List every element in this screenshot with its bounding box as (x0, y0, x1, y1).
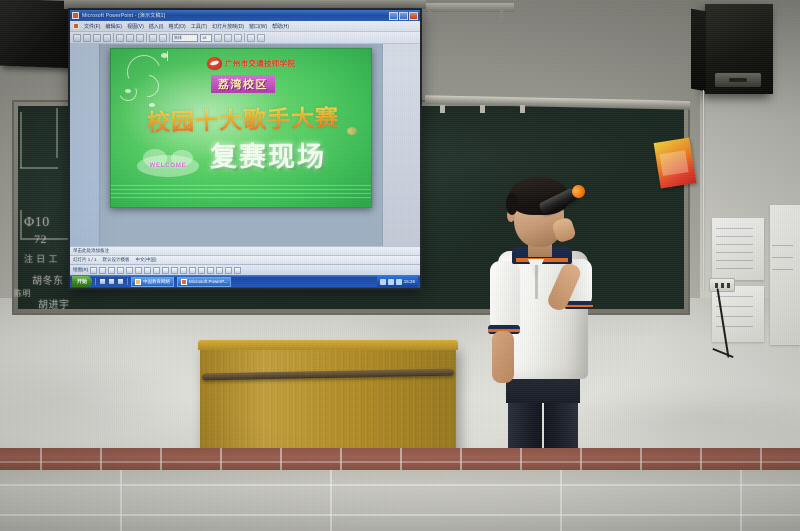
menu-item-file[interactable]: 文件(F) (84, 23, 100, 30)
align-center-icon[interactable] (257, 34, 265, 42)
projection-screen: Microsoft PowerPoint - [演示文稿1] 文件(F) 编辑(… (68, 8, 422, 290)
screen-mount-arm (428, 10, 431, 22)
slide-thumbnail-pane[interactable] (70, 44, 100, 246)
wall-paper (770, 205, 800, 345)
school-logo: 广州市交通技师学院 (207, 57, 295, 70)
close-button[interactable] (409, 12, 418, 20)
clock[interactable]: 15:26 (404, 279, 415, 284)
window-buttons[interactable] (389, 12, 418, 20)
toolbar-separator (146, 33, 147, 42)
screen-mount-arm (500, 10, 503, 22)
butterfly-decoration (347, 127, 357, 135)
italic-icon[interactable] (224, 34, 232, 42)
browser-icon[interactable] (108, 278, 115, 285)
left-arm (492, 331, 514, 383)
shirt-placket (535, 265, 538, 299)
wall-speaker-left (0, 0, 76, 68)
wall-speaker-right (705, 4, 773, 94)
menu-item-window[interactable]: 窗口(W) (249, 23, 267, 30)
draw-menu-label[interactable]: 绘图(R) (73, 267, 88, 273)
status-bar-info: 幻灯片 1 / 1 默认设计模板 中文(中国) (70, 255, 420, 264)
menu-item-edit[interactable]: 编辑(E) (105, 23, 122, 30)
system-tray[interactable]: 15:26 (377, 276, 418, 287)
task-pane[interactable] (382, 44, 420, 246)
folder-icon (135, 279, 141, 285)
wall-paper (712, 218, 764, 280)
language-label: 中文(中国) (136, 257, 157, 263)
staff-lines-decoration (111, 185, 371, 201)
slide-counter: 幻灯片 1 / 1 (73, 257, 97, 263)
taskbar-item-label: Microsoft PowerP... (189, 279, 227, 284)
taskbar-item-powerpoint[interactable]: Microsoft PowerP... (177, 277, 231, 287)
bold-icon[interactable] (214, 34, 222, 42)
menu-item-format[interactable]: 格式(O) (168, 23, 185, 30)
print-icon[interactable] (103, 34, 111, 42)
save-icon[interactable] (93, 34, 101, 42)
document-icon (73, 23, 79, 29)
start-button[interactable]: 开始 (72, 276, 92, 287)
textbox-icon[interactable] (144, 267, 151, 274)
standard-toolbar[interactable]: 宋体 18 (70, 32, 420, 44)
font-size-combo[interactable]: 18 (200, 34, 212, 42)
3d-style-icon[interactable] (234, 267, 241, 274)
welcome-cloud-decoration: WELCOME (137, 155, 199, 177)
music-note-stem (167, 51, 168, 61)
classroom-scene: Φ10 72 注 日 工 胡冬东 陈明 胡进宇 Micro (0, 0, 800, 531)
chalk-note-number: 72 (34, 232, 47, 247)
toolbar-separator (169, 33, 170, 42)
minimize-button[interactable] (389, 12, 398, 20)
font-color-icon[interactable] (198, 267, 205, 274)
menu-bar[interactable]: 文件(F) 编辑(E) 视图(V) 插入(I) 格式(O) 工具(T) 幻灯片放… (70, 21, 420, 32)
fill-color-icon[interactable] (180, 267, 187, 274)
diagram-icon[interactable] (162, 267, 169, 274)
window-title: Microsoft PowerPoint - [演示文稿1] (82, 12, 165, 19)
new-file-icon[interactable] (73, 34, 81, 42)
volume-icon[interactable] (380, 279, 386, 285)
chalk-mark (20, 167, 58, 169)
quick-launch-bar[interactable] (95, 278, 128, 285)
menu-item-view[interactable]: 视图(V) (127, 23, 144, 30)
media-player-icon[interactable] (117, 278, 124, 285)
campus-badge: 荔湾校区 (211, 75, 275, 93)
show-desktop-icon[interactable] (99, 278, 106, 285)
menu-item-tools[interactable]: 工具(T) (191, 23, 207, 30)
taskbar-item-label: 中国教育网络 (143, 279, 170, 285)
chalk-note-name-2: 陈明 (14, 288, 31, 299)
powerpoint-title-bar[interactable]: Microsoft PowerPoint - [演示文稿1] (70, 10, 420, 21)
menu-item-help[interactable]: 帮助(H) (272, 23, 289, 30)
power-outlet[interactable] (709, 278, 735, 292)
slide-sub-title: 复赛现场 (173, 135, 363, 174)
left-sleeve (490, 261, 520, 331)
notes-placeholder[interactable]: 单击此处添加备注 (73, 248, 109, 254)
menu-item-slideshow[interactable]: 幻灯片放映(D) (212, 23, 244, 30)
line-icon[interactable] (108, 267, 115, 274)
music-note-decoration (125, 89, 131, 93)
maximize-button[interactable] (399, 12, 408, 20)
select-arrow-icon[interactable] (90, 267, 97, 274)
windows-taskbar[interactable]: 开始 中国教育网络 Microsoft PowerP... (70, 275, 420, 288)
tray-clip (440, 105, 445, 113)
podium-top-edge (198, 340, 458, 350)
chalk-mark (20, 112, 22, 168)
speaker-port (715, 73, 761, 87)
school-emblem-icon (207, 57, 222, 70)
wordart-icon[interactable] (153, 267, 160, 274)
slide-canvas[interactable]: 广州市交通技师学院 荔湾校区 校园十大歌手大赛 复赛现场 WELCOME (100, 44, 382, 246)
school-name: 广州市交通技师学院 (225, 58, 295, 69)
autoshapes-icon[interactable] (99, 267, 106, 274)
input-method-icon[interactable] (396, 279, 402, 285)
powerpoint-body: 广州市交通技师学院 荔湾校区 校园十大歌手大赛 复赛现场 WELCOME (70, 44, 420, 246)
powerpoint-icon (181, 279, 187, 285)
rectangle-icon[interactable] (126, 267, 133, 274)
status-bar: 单击此处添加备注 (70, 246, 420, 255)
copy-icon[interactable] (126, 34, 134, 42)
chalk-mark (56, 108, 58, 158)
colored-notice-poster (654, 137, 697, 188)
chalk-note-label: 注 日 工 (24, 252, 58, 265)
paste-icon[interactable] (136, 34, 144, 42)
design-template-label: 默认设计模板 (103, 257, 130, 263)
slide-main-title: 校园十大歌手大赛 (125, 98, 362, 138)
align-left-icon[interactable] (247, 34, 255, 42)
powerpoint-icon (72, 12, 79, 19)
open-file-icon[interactable] (83, 34, 91, 42)
toolbar-separator (244, 33, 245, 42)
toolbar-separator (113, 33, 114, 42)
menu-item-insert[interactable]: 插入(I) (149, 23, 164, 30)
cut-icon[interactable] (116, 34, 124, 42)
dash-style-icon[interactable] (216, 267, 223, 274)
tray-clip (480, 105, 485, 113)
welcome-label: WELCOME (150, 163, 187, 169)
speaker-side-panel (691, 9, 706, 92)
presentation-slide[interactable]: 广州市交通技师学院 荔湾校区 校园十大歌手大赛 复赛现场 WELCOME (110, 48, 372, 208)
tray-clip (520, 105, 525, 113)
oval-icon[interactable] (135, 267, 142, 274)
line-color-icon[interactable] (189, 267, 196, 274)
arrow-icon[interactable] (117, 267, 124, 274)
powerpoint-window: Microsoft PowerPoint - [演示文稿1] 文件(F) 编辑(… (70, 10, 420, 288)
floor (0, 470, 800, 531)
redo-icon[interactable] (159, 34, 167, 42)
chalk-note-name-1: 胡冬东 (32, 272, 64, 287)
wall-seam (703, 90, 704, 290)
chalk-note-name-3: 胡进宇 (38, 296, 70, 311)
chalk-mark (20, 210, 22, 238)
shadow-style-icon[interactable] (225, 267, 232, 274)
line-style-icon[interactable] (207, 267, 214, 274)
chalk-note-diameter: Φ10 (24, 215, 50, 231)
taskbar-item-folder[interactable]: 中国教育网络 (131, 277, 174, 287)
network-icon[interactable] (388, 279, 394, 285)
drawing-toolbar[interactable]: 绘图(R) (70, 264, 420, 275)
font-name-combo[interactable]: 宋体 (172, 34, 198, 42)
undo-icon[interactable] (149, 34, 157, 42)
insert-picture-icon[interactable] (171, 267, 178, 274)
underline-icon[interactable] (234, 34, 242, 42)
